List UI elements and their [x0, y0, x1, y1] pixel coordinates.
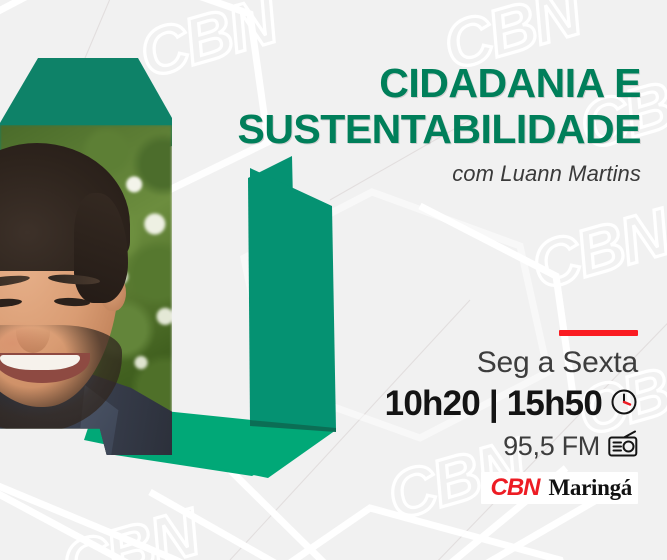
program-host-subtitle: com Luann Martins [211, 161, 641, 187]
schedule-times-row: 10h20 | 15h50 [288, 384, 638, 424]
host-photo [0, 125, 172, 455]
teeth [0, 355, 80, 370]
host-photo-inner [0, 125, 172, 455]
accent-bar [559, 330, 638, 336]
schedule-frequency: 95,5 FM [503, 431, 600, 462]
schedule-times: 10h20 | 15h50 [385, 384, 602, 424]
maringa-wordmark: Maringá [549, 475, 633, 501]
schedule-days: Seg a Sexta [288, 346, 638, 380]
schedule-block: Seg a Sexta 10h20 | 15h50 95,5 FM [288, 330, 638, 504]
poster-canvas: .wm { fill:none; stroke:#ffffff; stroke-… [0, 0, 667, 560]
program-title-line-2: SUSTENTABILIDADE [211, 106, 641, 152]
program-title-line-1: CIDADANIA E [211, 60, 641, 106]
clock-icon [610, 388, 638, 421]
cbn-maringa-logo: CBN Maringá [481, 472, 639, 504]
title-block: CIDADANIA E SUSTENTABILIDADE com Luann M… [211, 60, 641, 187]
radio-icon [608, 430, 638, 462]
schedule-frequency-row: 95,5 FM [288, 430, 638, 462]
nose [16, 311, 50, 353]
cbn-wordmark: CBN [491, 474, 540, 502]
